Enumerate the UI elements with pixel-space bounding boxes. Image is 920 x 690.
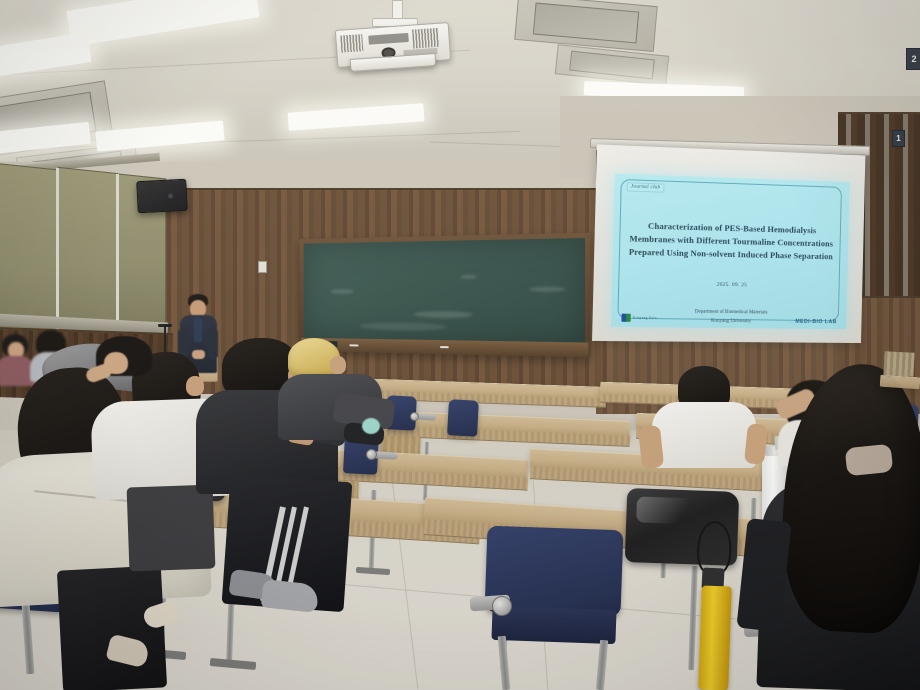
chalk-smudge — [330, 289, 354, 294]
chair-knob — [366, 449, 377, 460]
chalk-smudge — [359, 322, 446, 331]
chalk-stick[interactable] — [440, 346, 449, 348]
projector-mount-arm — [392, 0, 403, 20]
ac-vent-grille — [569, 51, 654, 80]
wall-hook-rack — [883, 351, 914, 377]
chair[interactable] — [447, 399, 479, 437]
slide-title: Characterization of PES-Based Hemodialys… — [613, 219, 849, 265]
window-blind — [58, 167, 118, 337]
lab-logo-text: MEDI-BIO LAB — [795, 319, 837, 325]
blind-divider — [56, 168, 59, 338]
university-logo-text: Konyang Univ. — [633, 316, 658, 320]
yellow-umbrella[interactable] — [698, 586, 732, 690]
chalkboard-frame — [299, 233, 590, 358]
student-neck — [845, 444, 894, 477]
student-head — [330, 356, 346, 374]
projector-vent — [412, 28, 439, 49]
projector-label — [368, 33, 409, 45]
student-trousers — [57, 565, 167, 690]
bag-highlight — [636, 496, 715, 525]
green-chalkboard[interactable] — [304, 238, 585, 342]
chair-knob — [492, 596, 512, 616]
wall-sign-1: 1 — [892, 130, 905, 147]
student-arm — [638, 425, 664, 469]
wall-sign-2: 2 — [906, 48, 920, 70]
projector-vent — [340, 34, 363, 52]
wall-sign-2-label: 2 — [911, 55, 916, 64]
university-logo-mark — [621, 314, 630, 322]
chalk-smudge — [530, 287, 566, 292]
lecture-hall-photo: 2 1 Journal club Characterization of PES… — [0, 0, 920, 690]
presenter-arm-right — [208, 328, 218, 360]
lab-logo: :: MEDI-BIO LAB — [789, 319, 837, 325]
wall-sign-1-label: 1 — [896, 135, 900, 143]
presenter-tie — [194, 318, 202, 342]
slide-kicker-journal-club: Journal club — [627, 182, 665, 192]
light-switch-plate[interactable] — [258, 261, 267, 273]
presentation-slide[interactable]: Journal club Characterization of PES-Bas… — [611, 174, 850, 330]
student-head — [186, 376, 204, 396]
ac-vent-grille — [532, 3, 639, 44]
speaker-driver — [168, 193, 173, 198]
chalk-smudge — [414, 311, 473, 318]
chalk-stick[interactable] — [349, 344, 358, 346]
chalk-smudge — [461, 275, 477, 279]
microphone-boom — [158, 324, 172, 327]
wall-speaker — [136, 179, 188, 214]
projection-screen[interactable]: Journal club Characterization of PES-Bas… — [592, 144, 865, 343]
university-logo: Konyang Univ. — [621, 314, 657, 323]
chair-knob — [410, 412, 419, 421]
black-backpack[interactable] — [625, 488, 740, 566]
student-trousers — [127, 485, 216, 572]
presenter-hands — [192, 350, 205, 359]
white-tshirt — [652, 402, 756, 468]
blind-divider — [116, 174, 119, 330]
lab-logo-dot: :: — [789, 319, 794, 325]
mint-scrunchie — [362, 418, 380, 434]
